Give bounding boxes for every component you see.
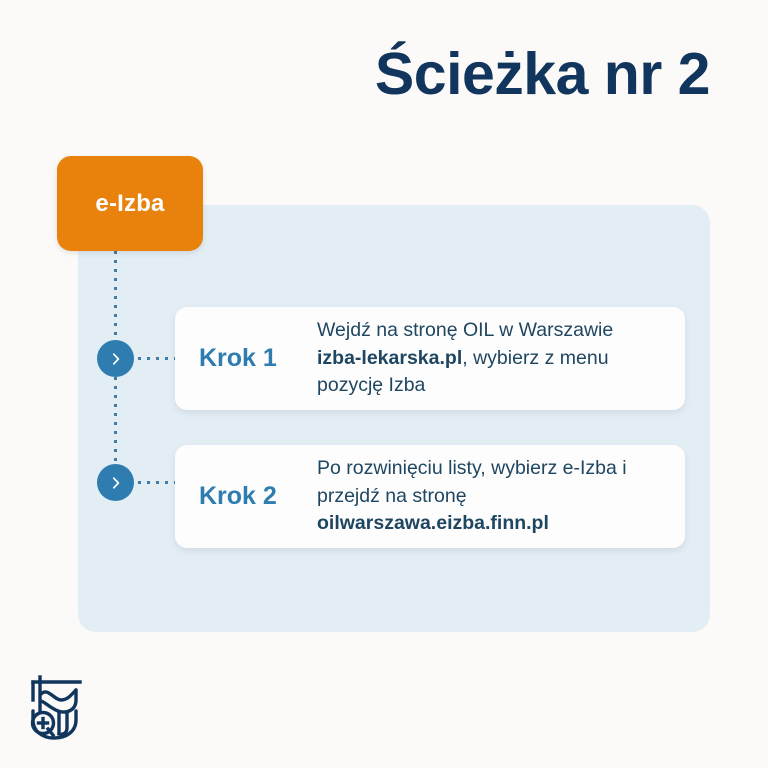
oil-logo-icon bbox=[20, 670, 90, 742]
page-title: Ścieżka nr 2 bbox=[375, 44, 710, 106]
step-text-1: Wejdź na stronę OIL w Warszawie izba-lek… bbox=[317, 317, 663, 400]
step-card-2: Krok 2 Po rozwinięciu listy, wybierz e-I… bbox=[175, 445, 685, 548]
chevron-right-icon bbox=[108, 475, 124, 491]
step-node-2 bbox=[97, 464, 134, 501]
e-izba-badge: e-Izba bbox=[57, 156, 203, 251]
e-izba-badge-label: e-Izba bbox=[95, 190, 164, 218]
chevron-right-icon bbox=[108, 351, 124, 367]
step-text-2: Po rozwinięciu listy, wybierz e-Izba i p… bbox=[317, 455, 663, 538]
step-card-1: Krok 1 Wejdź na stronę OIL w Warszawie i… bbox=[175, 307, 685, 410]
step-label-1: Krok 1 bbox=[199, 344, 317, 373]
step-node-1 bbox=[97, 340, 134, 377]
diagram-panel bbox=[78, 205, 710, 632]
horizontal-dotted-connector-2 bbox=[138, 481, 176, 484]
step-label-2: Krok 2 bbox=[199, 482, 317, 511]
horizontal-dotted-connector-1 bbox=[138, 357, 176, 360]
